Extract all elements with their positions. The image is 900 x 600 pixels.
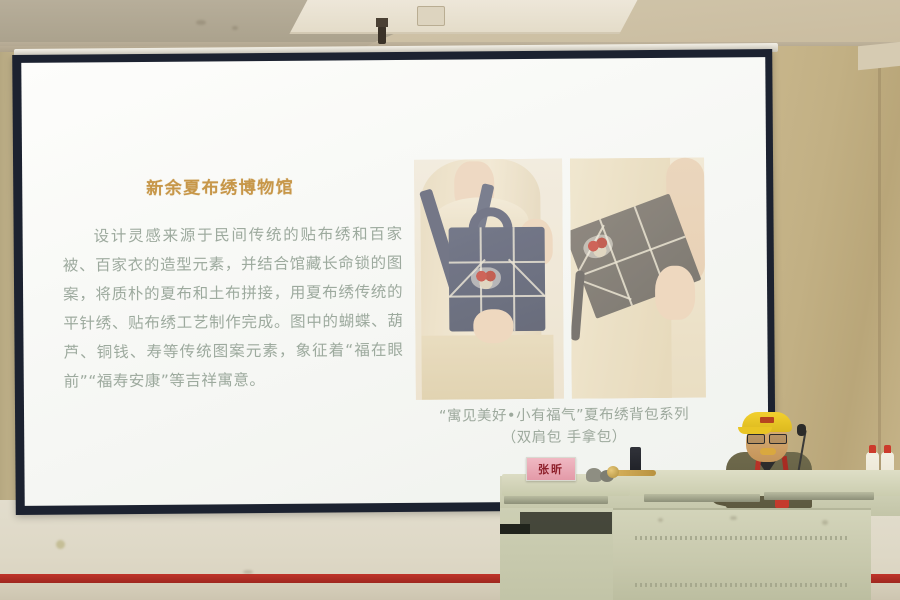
embroidered-motif-icon	[471, 267, 501, 289]
name-placard-text: 张昕	[538, 461, 564, 477]
projection-screen[interactable]: 新余夏布绣博物馆 设计灵感来源于民间传统的贴布绣和百家被、百家衣的造型元素，并结…	[12, 49, 776, 515]
ceiling-hook-icon	[378, 26, 386, 44]
podium-smudge	[730, 516, 737, 520]
slide-title: 新余夏布绣博物馆	[146, 173, 294, 199]
slide-body-text: 设计灵感来源于民间传统的贴布绣和百家被、百家衣的造型元素，并结合馆藏长命锁的图案…	[63, 220, 404, 397]
wall-right-top-trim	[858, 42, 900, 71]
eyeglasses-icon	[746, 434, 788, 442]
podium-smudge	[658, 518, 663, 522]
slide-caption-line-1: “寓见美好•小有福气”夏布绣背包系列	[404, 403, 724, 428]
podium-recess	[520, 512, 612, 534]
slide-caption-line-2: （双肩包 手拿包）	[404, 425, 724, 450]
lecture-hall-scene: 新余夏布绣博物馆 设计灵感来源于民间传统的贴布绣和百家被、百家衣的造型元素，并结…	[0, 0, 900, 600]
ceiling-panel	[289, 0, 640, 34]
podium-rail	[644, 494, 760, 502]
speaker-mouth	[760, 448, 776, 455]
photo-backpack	[414, 159, 564, 400]
presentation-slide: 新余夏布绣博物馆 设计灵感来源于民间传统的贴布绣和百家被、百家衣的造型元素，并结…	[21, 57, 768, 506]
ceiling-sensor-icon	[417, 6, 445, 26]
wall-right-seam	[878, 46, 881, 516]
ceiling-smudge	[232, 26, 238, 30]
yellow-cap	[742, 412, 792, 432]
podium-rail	[504, 496, 608, 504]
podium-rail	[764, 492, 874, 500]
gooseneck-microphone-icon[interactable]	[797, 424, 806, 436]
podium-smudge	[822, 520, 828, 525]
podium-vent	[635, 583, 850, 587]
slide-caption: “寓见美好•小有福气”夏布绣背包系列 （双肩包 手拿包）	[404, 403, 724, 450]
photo-clutch	[570, 158, 706, 399]
slide-photo-group	[414, 158, 706, 400]
ceiling-smudge	[196, 20, 206, 25]
cap-logo-icon	[760, 417, 774, 423]
name-placard: 张昕	[526, 457, 576, 481]
wall-smudge	[56, 540, 65, 549]
screen-surface: 新余夏布绣博物馆 设计灵感来源于民间传统的贴布绣和百家被、百家衣的造型元素，并结…	[21, 57, 768, 506]
wall-smudge	[243, 570, 253, 574]
microphone-icon	[607, 466, 619, 478]
podium-dark-trim	[500, 524, 530, 534]
podium-vent	[635, 536, 850, 540]
